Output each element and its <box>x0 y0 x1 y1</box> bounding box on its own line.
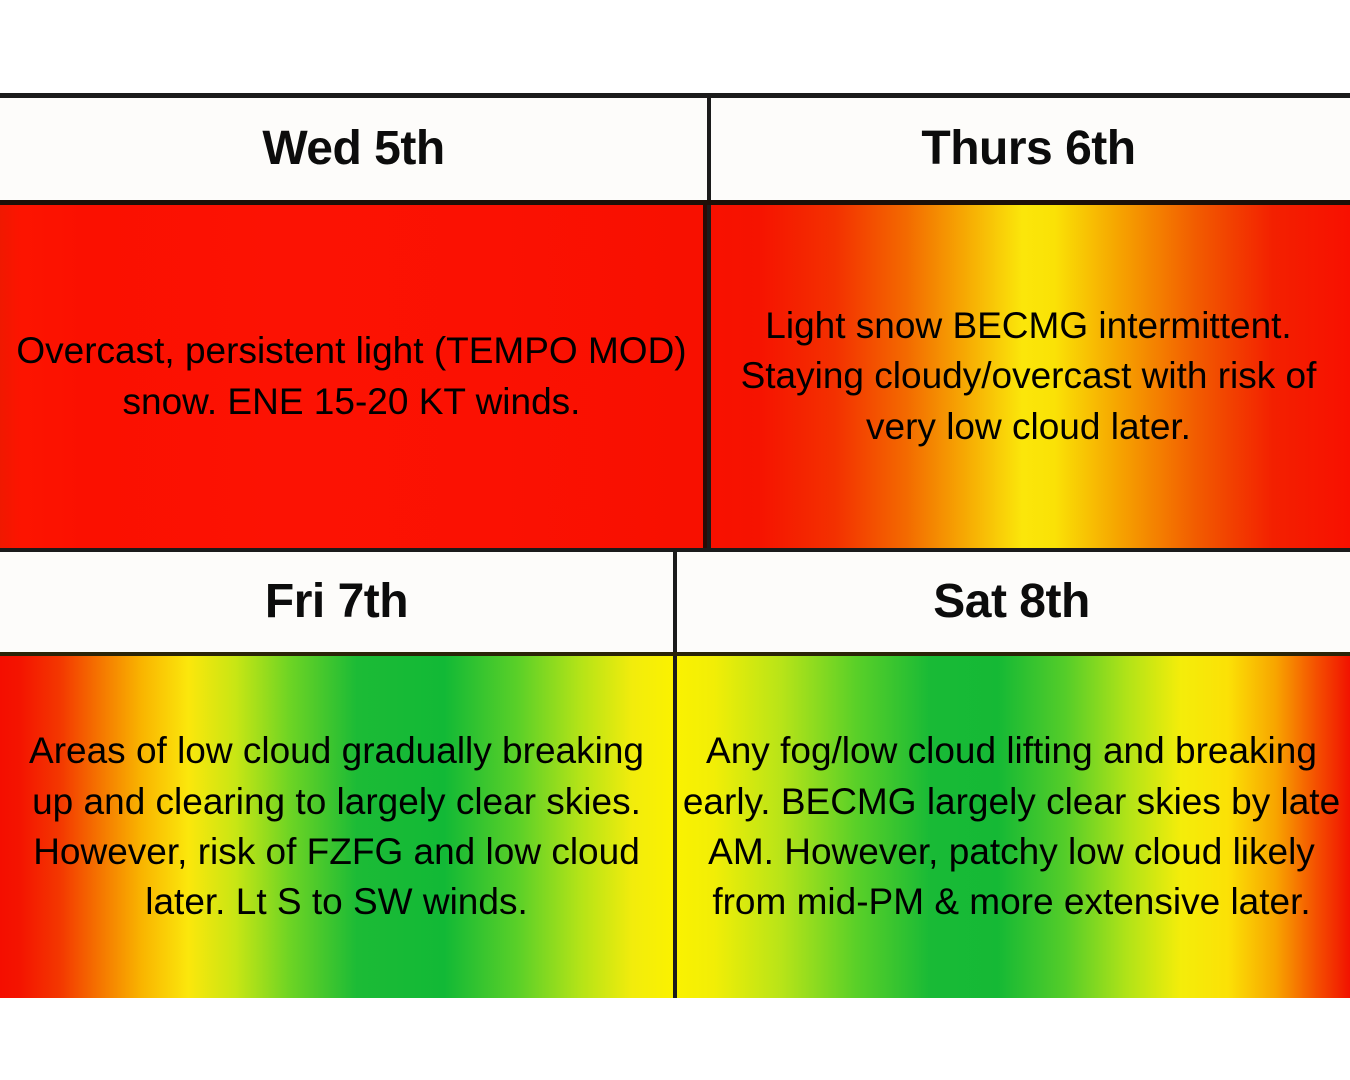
column-divider <box>707 98 711 200</box>
forecast-cell-fri[interactable]: Areas of low cloud gradually breaking up… <box>0 656 673 998</box>
forecast-text: Overcast, persistent light (TEMPO MOD) s… <box>0 326 703 427</box>
day-header-cell-wed[interactable]: Wed 5th <box>0 98 707 200</box>
forecast-row: Wed 5th Thurs 6th Overcast, persistent l… <box>0 98 1350 548</box>
day-header-cell-thurs[interactable]: Thurs 6th <box>707 98 1350 200</box>
day-label: Fri 7th <box>265 578 408 626</box>
forecast-text: Light snow BECMG intermittent. Staying c… <box>707 301 1350 452</box>
forecast-page: Wed 5th Thurs 6th Overcast, persistent l… <box>0 0 1350 1080</box>
column-divider <box>673 656 677 998</box>
forecast-row: Fri 7th Sat 8th Areas of low cloud gradu… <box>0 548 1350 1002</box>
day-header-band: Fri 7th Sat 8th <box>0 548 1350 656</box>
day-header-cell-fri[interactable]: Fri 7th <box>0 552 673 652</box>
day-label: Thurs 6th <box>921 125 1135 173</box>
forecast-band: Areas of low cloud gradually breaking up… <box>0 656 1350 998</box>
weather-forecast-table: Wed 5th Thurs 6th Overcast, persistent l… <box>0 93 1350 997</box>
day-header-band: Wed 5th Thurs 6th <box>0 98 1350 205</box>
column-divider <box>673 552 677 652</box>
forecast-band: Overcast, persistent light (TEMPO MOD) s… <box>0 205 1350 548</box>
forecast-text: Areas of low cloud gradually breaking up… <box>0 726 673 927</box>
day-label: Wed 5th <box>262 125 444 173</box>
day-header-cell-sat[interactable]: Sat 8th <box>673 552 1350 652</box>
column-divider <box>707 205 711 548</box>
forecast-text: Any fog/low cloud lifting and breaking e… <box>673 726 1350 927</box>
forecast-cell-sat[interactable]: Any fog/low cloud lifting and breaking e… <box>673 656 1350 998</box>
day-label: Sat 8th <box>933 578 1090 626</box>
forecast-cell-thurs[interactable]: Light snow BECMG intermittent. Staying c… <box>707 205 1350 548</box>
forecast-cell-wed[interactable]: Overcast, persistent light (TEMPO MOD) s… <box>0 205 707 548</box>
